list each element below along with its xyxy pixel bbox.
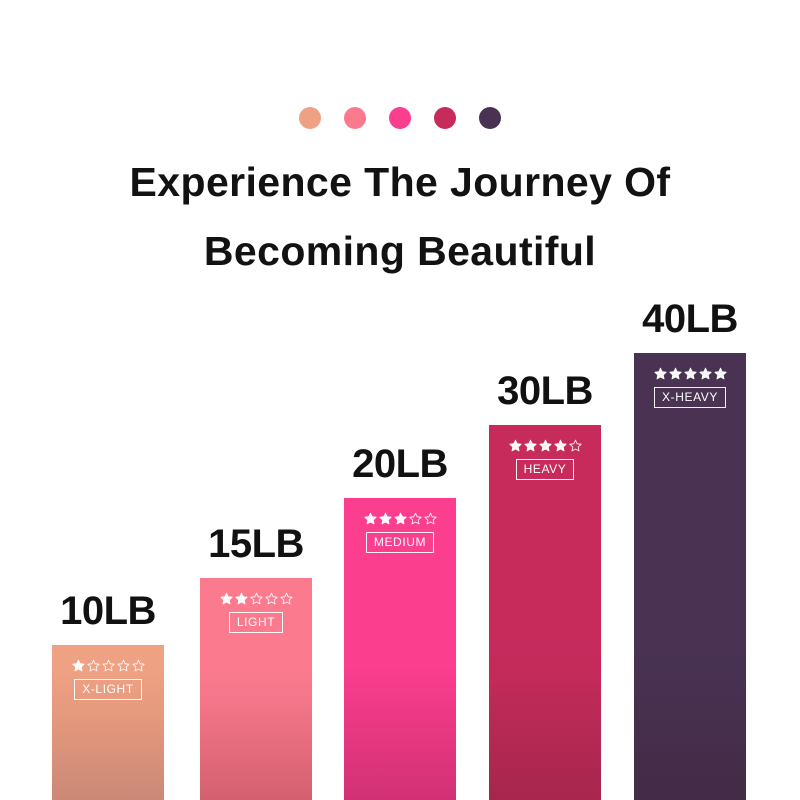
star-outline-icon: [424, 512, 437, 525]
star-rating: [509, 439, 582, 452]
star-outline-icon: [117, 659, 130, 672]
bar-column[interactable]: X-LIGHT: [52, 645, 164, 800]
poster-root: Experience The Journey Of Becoming Beaut…: [0, 0, 800, 800]
strength-badge: X-LIGHT: [74, 679, 142, 700]
bar-weight-label: 10LB: [52, 591, 164, 631]
star-outline-icon: [409, 512, 422, 525]
star-filled-icon: [539, 439, 552, 452]
star-filled-icon: [509, 439, 522, 452]
bar-content: HEAVY: [489, 425, 601, 480]
star-filled-icon: [394, 512, 407, 525]
star-rating: [72, 659, 145, 672]
star-filled-icon: [714, 367, 727, 380]
bar-content: MEDIUM: [344, 498, 456, 553]
star-outline-icon: [265, 592, 278, 605]
star-filled-icon: [235, 592, 248, 605]
bar-base-shadow: [200, 670, 312, 800]
star-outline-icon: [250, 592, 263, 605]
bar-group[interactable]: 20LBMEDIUM: [344, 444, 456, 800]
star-outline-icon: [569, 439, 582, 452]
star-filled-icon: [379, 512, 392, 525]
star-filled-icon: [554, 439, 567, 452]
strength-badge: MEDIUM: [366, 532, 434, 553]
bar-weight-label: 40LB: [634, 299, 746, 339]
bar-column[interactable]: X-HEAVY: [634, 353, 746, 800]
bar-content: X-HEAVY: [634, 353, 746, 408]
bar-group[interactable]: 40LBX-HEAVY: [634, 299, 746, 800]
bar-content: LIGHT: [200, 578, 312, 633]
bar-weight-label: 15LB: [200, 524, 312, 564]
star-filled-icon: [524, 439, 537, 452]
bar-column[interactable]: LIGHT: [200, 578, 312, 800]
bar-weight-label: 30LB: [489, 371, 601, 411]
resistance-bar-chart: 10LBX-LIGHT15LBLIGHT20LBMEDIUM30LBHEAVY4…: [0, 0, 800, 800]
bar-group[interactable]: 30LBHEAVY: [489, 371, 601, 800]
star-filled-icon: [684, 367, 697, 380]
star-filled-icon: [699, 367, 712, 380]
star-outline-icon: [102, 659, 115, 672]
star-filled-icon: [220, 592, 233, 605]
bar-column[interactable]: HEAVY: [489, 425, 601, 800]
star-filled-icon: [669, 367, 682, 380]
star-outline-icon: [87, 659, 100, 672]
bar-base-shadow: [634, 670, 746, 800]
bar-group[interactable]: 15LBLIGHT: [200, 524, 312, 800]
star-filled-icon: [72, 659, 85, 672]
star-filled-icon: [654, 367, 667, 380]
star-outline-icon: [280, 592, 293, 605]
bar-base-shadow: [489, 670, 601, 800]
bar-column[interactable]: MEDIUM: [344, 498, 456, 800]
bar-base-shadow: [344, 670, 456, 800]
bar-content: X-LIGHT: [52, 645, 164, 700]
bar-group[interactable]: 10LBX-LIGHT: [52, 591, 164, 800]
star-filled-icon: [364, 512, 377, 525]
strength-badge: X-HEAVY: [654, 387, 726, 408]
strength-badge: HEAVY: [516, 459, 575, 480]
star-outline-icon: [132, 659, 145, 672]
star-rating: [654, 367, 727, 380]
star-rating: [364, 512, 437, 525]
strength-badge: LIGHT: [229, 612, 283, 633]
bar-weight-label: 20LB: [344, 444, 456, 484]
star-rating: [220, 592, 293, 605]
